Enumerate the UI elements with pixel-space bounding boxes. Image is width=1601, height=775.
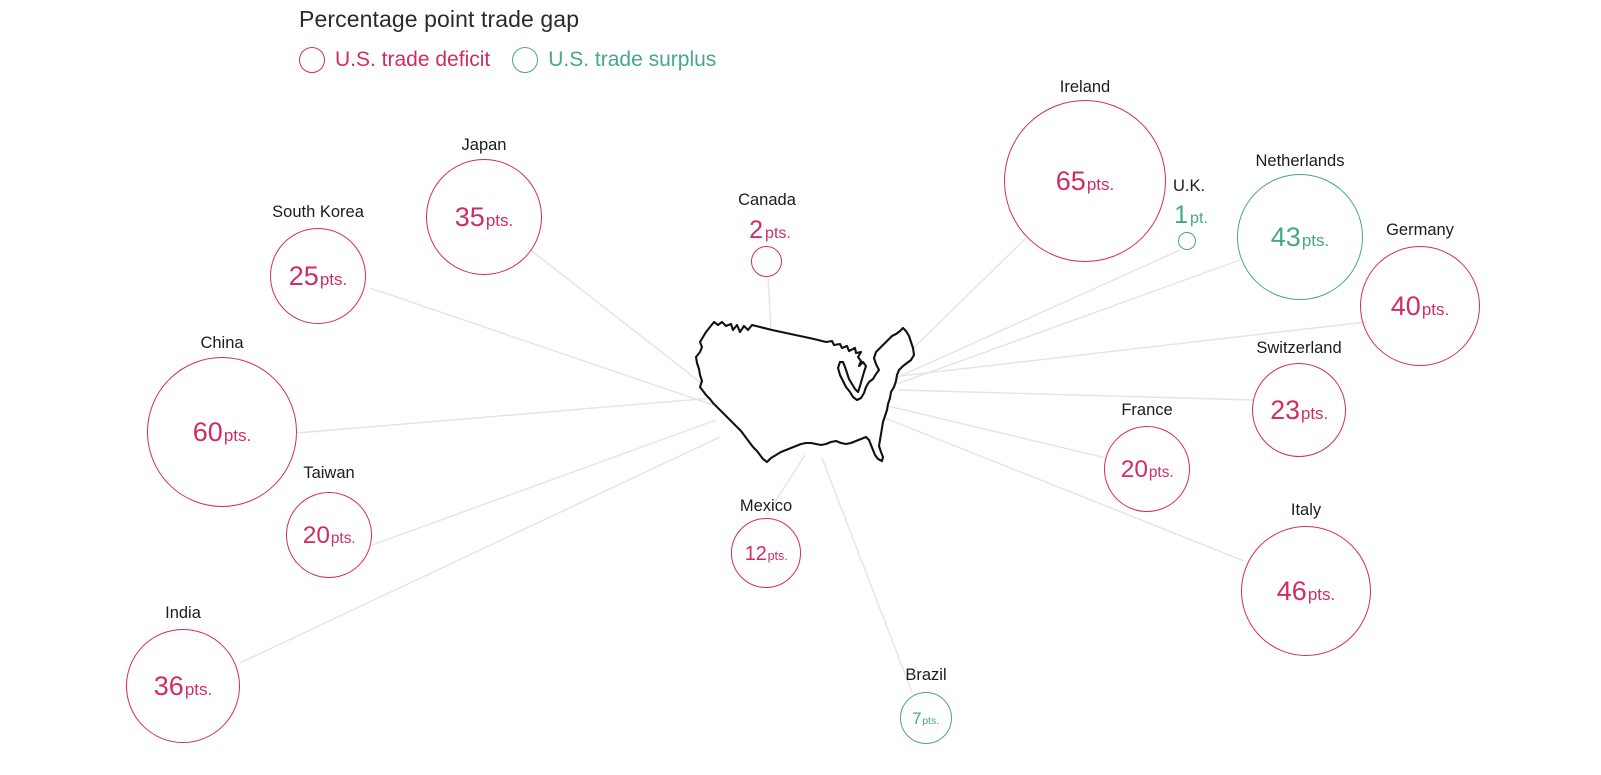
bubble-value-number: 20: [1121, 457, 1148, 481]
bubble-germany[interactable]: 40pts.: [1360, 246, 1480, 366]
bubble-value-number: 46: [1277, 578, 1307, 605]
bubble-value-unit: pts.: [767, 549, 787, 562]
legend-label-deficit: U.S. trade deficit: [335, 48, 490, 72]
connector-line: [896, 250, 1180, 378]
bubble-value-taiwan: 20pts.: [303, 523, 356, 547]
bubble-value-number: 20: [303, 523, 330, 547]
bubble-value-unit: pts.: [765, 226, 791, 242]
bubble-south-korea[interactable]: 25pts.: [270, 228, 366, 324]
bubble-value-u-k: 1pt.: [1174, 203, 1208, 228]
country-label-taiwan: Taiwan: [303, 464, 354, 483]
bubble-value-unit: pts.: [224, 427, 251, 444]
bubble-value-germany: 40pts.: [1391, 293, 1449, 320]
bubble-canada[interactable]: [751, 246, 782, 277]
bubble-u-k[interactable]: [1178, 232, 1196, 250]
connector-line: [885, 418, 1244, 561]
bubble-switzerland[interactable]: 23pts.: [1252, 363, 1346, 457]
usa-border-path: [696, 322, 914, 462]
bubble-chart-canvas: Percentage point trade gap U.S. trade de…: [0, 0, 1601, 775]
connector-line: [822, 458, 912, 692]
connector-line: [372, 420, 716, 545]
bubble-value-south-korea: 25pts.: [289, 263, 347, 290]
bubble-value-number: 7: [913, 710, 922, 727]
bubble-brazil[interactable]: 7pts.: [900, 692, 952, 744]
bubble-value-unit: pts.: [331, 530, 356, 545]
bubble-france[interactable]: 20pts.: [1104, 426, 1190, 512]
country-label-japan: Japan: [462, 136, 507, 155]
country-label-switzerland: Switzerland: [1256, 339, 1341, 358]
legend-item-deficit[interactable]: U.S. trade deficit: [299, 45, 490, 75]
bubble-value-number: 43: [1271, 224, 1301, 251]
connector-line: [888, 406, 1106, 458]
bubble-value-number: 1: [1174, 203, 1188, 228]
bubble-value-ireland: 65pts.: [1056, 168, 1114, 195]
bubble-value-italy: 46pts.: [1277, 578, 1335, 605]
bubble-value-unit: pts.: [185, 681, 212, 698]
country-label-china: China: [200, 334, 243, 353]
country-label-mexico: Mexico: [740, 497, 792, 516]
connector-line: [297, 398, 713, 433]
circle-outline-icon-surplus: [512, 47, 538, 73]
legend-item-surplus[interactable]: U.S. trade surplus: [512, 45, 716, 75]
connector-line: [899, 390, 1254, 400]
bubble-value-japan: 35pts.: [455, 204, 513, 231]
bubble-japan[interactable]: 35pts.: [426, 159, 542, 275]
country-label-india: India: [165, 604, 201, 623]
country-label-netherlands: Netherlands: [1256, 152, 1345, 171]
bubble-value-canada: 2pts.: [749, 218, 791, 243]
country-label-u-k: U.K.: [1173, 177, 1205, 196]
country-label-france: France: [1121, 401, 1172, 420]
bubble-value-netherlands: 43pts.: [1271, 224, 1329, 251]
bubble-value-number: 23: [1270, 397, 1300, 424]
bubble-mexico[interactable]: 12pts.: [731, 518, 801, 588]
bubble-value-unit: pts.: [1302, 232, 1329, 249]
circle-outline-icon-deficit: [299, 47, 325, 73]
bubble-value-unit: pts.: [1301, 405, 1328, 422]
bubble-ireland[interactable]: 65pts.: [1004, 100, 1166, 262]
bubble-value-number: 40: [1391, 293, 1421, 320]
bubble-value-unit: pts.: [1308, 586, 1335, 603]
legend-label-surplus: U.S. trade surplus: [548, 48, 716, 72]
bubble-india[interactable]: 36pts.: [126, 629, 240, 743]
legend: U.S. trade deficit U.S. trade surplus: [299, 45, 716, 75]
connector-line: [370, 288, 713, 405]
bubble-italy[interactable]: 46pts.: [1241, 526, 1371, 656]
bubble-value-switzerland: 23pts.: [1270, 397, 1328, 424]
bubble-value-number: 2: [749, 218, 763, 243]
bubble-value-number: 36: [154, 673, 184, 700]
country-label-south-korea: South Korea: [272, 203, 364, 222]
bubble-netherlands[interactable]: 43pts.: [1237, 174, 1363, 300]
chart-title: Percentage point trade gap: [299, 6, 579, 33]
country-label-canada: Canada: [738, 191, 796, 210]
bubble-value-unit: pts.: [1422, 301, 1449, 318]
bubble-taiwan[interactable]: 20pts.: [286, 492, 372, 578]
connector-line: [889, 238, 1026, 372]
bubble-value-unit: pts.: [1087, 176, 1114, 193]
bubble-value-unit: pts.: [320, 271, 347, 288]
bubble-value-china: 60pts.: [193, 419, 251, 446]
country-label-ireland: Ireland: [1060, 78, 1110, 97]
bubble-value-number: 12: [744, 543, 766, 563]
connector-line: [528, 248, 714, 393]
bubble-value-mexico: 12pts.: [744, 543, 787, 563]
bubble-value-unit: pts.: [486, 212, 513, 229]
bubble-value-brazil: 7pts.: [913, 710, 940, 727]
bubble-value-unit: pt.: [1190, 211, 1208, 227]
connector-line: [897, 260, 1240, 384]
connector-line: [768, 278, 771, 330]
bubble-value-number: 60: [193, 419, 223, 446]
bubble-value-unit: pts.: [1149, 464, 1174, 479]
country-label-italy: Italy: [1291, 501, 1321, 520]
country-label-germany: Germany: [1386, 221, 1454, 240]
bubble-value-unit: pts.: [922, 715, 939, 726]
bubble-value-india: 36pts.: [154, 673, 212, 700]
bubble-china[interactable]: 60pts.: [147, 357, 297, 507]
bubble-value-number: 65: [1056, 168, 1086, 195]
bubble-value-number: 35: [455, 204, 485, 231]
bubble-value-number: 25: [289, 263, 319, 290]
bubble-value-france: 20pts.: [1121, 457, 1174, 481]
country-label-brazil: Brazil: [905, 666, 946, 685]
